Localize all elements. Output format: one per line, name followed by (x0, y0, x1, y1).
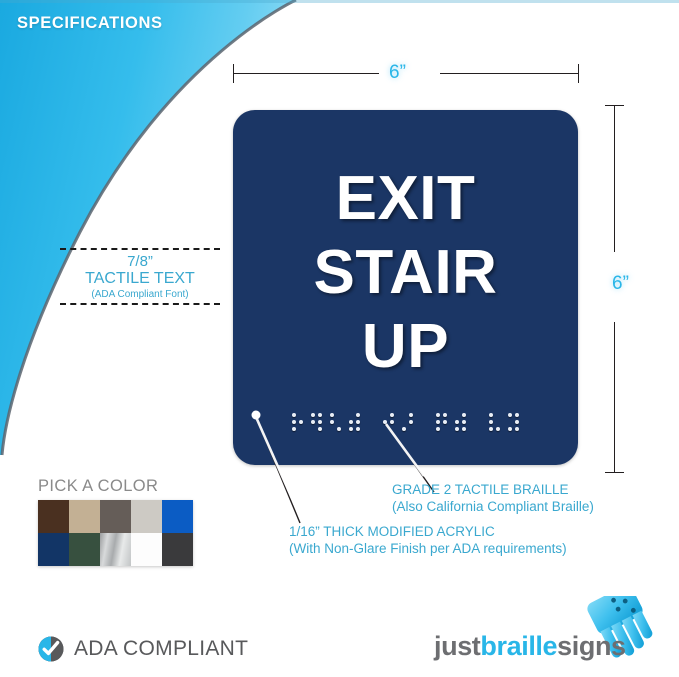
logo-part-just: just (434, 631, 480, 661)
dimension-height-label: 6” (612, 273, 629, 295)
callout-acrylic-line-2: (With Non-Glare Finish per ADA requireme… (289, 540, 567, 557)
dim-line-bottom (614, 322, 615, 472)
sign-text-line-3: UP (233, 310, 578, 384)
callout-acrylic: 1/16” THICK MODIFIED ACRYLIC (With Non-G… (289, 523, 567, 557)
swatch-dark-brown[interactable] (38, 500, 69, 533)
logo-part-signs: signs (557, 631, 626, 661)
ada-sign-preview: EXIT STAIR UP (233, 110, 578, 465)
swatch-white[interactable] (131, 533, 162, 566)
brand-logo[interactable]: justbraillesigns (434, 596, 664, 664)
swatch-forest-green[interactable] (69, 533, 100, 566)
tactile-text-annotation: 7/8” TACTILE TEXT (ADA Compliant Font) (60, 248, 220, 305)
page-title: SPECIFICATIONS (17, 14, 163, 33)
tactile-size-label: 7/8” (60, 253, 220, 270)
swatch-tan[interactable] (69, 500, 100, 533)
dim-line-right (440, 73, 578, 74)
swatch-bright-blue[interactable] (162, 500, 193, 533)
ada-compliant-label: ADA COMPLIANT (74, 637, 248, 661)
ada-check-badge-icon (38, 636, 64, 662)
braille-word-stair (383, 412, 413, 434)
logo-part-braille: braille (480, 631, 557, 661)
tactile-name-label: TACTILE TEXT (60, 270, 220, 288)
tactile-note-label: (ADA Compliant Font) (60, 288, 220, 301)
tactile-rule-bottom (60, 303, 220, 305)
pick-a-color-title: PICK A COLOR (38, 477, 158, 496)
dimension-width-label: 6” (389, 62, 406, 84)
sign-text-block: EXIT STAIR UP (233, 162, 578, 384)
dim-cap-right (578, 64, 579, 83)
callout-acrylic-line-1: 1/16” THICK MODIFIED ACRYLIC (289, 523, 567, 540)
braille-row (233, 412, 578, 434)
swatch-taupe-gray[interactable] (100, 500, 131, 533)
logo-wordmark: justbraillesigns (434, 631, 626, 662)
callout-grade2-braille: GRADE 2 TACTILE BRAILLE (Also California… (392, 481, 594, 515)
swatch-light-gray[interactable] (131, 500, 162, 533)
callout-braille-line-1: GRADE 2 TACTILE BRAILLE (392, 481, 594, 498)
swatch-navy-blue[interactable] (38, 533, 69, 566)
swatch-charcoal-black[interactable] (162, 533, 193, 566)
braille-word-trailing (489, 412, 519, 434)
specification-sheet: SPECIFICATIONS 6” 6” EXIT STAIR UP (0, 0, 679, 677)
sign-text-line-2: STAIR (233, 236, 578, 310)
dim-line-top (614, 105, 615, 252)
ada-compliant-badge-row: ADA COMPLIANT (38, 636, 248, 662)
swatch-brushed-silver[interactable] (100, 533, 131, 566)
dim-line-left (233, 73, 379, 74)
color-swatch-grid[interactable] (38, 500, 193, 566)
callout-braille-line-2: (Also California Compliant Braille) (392, 498, 594, 515)
braille-word-up (436, 412, 466, 434)
dim-cap-bottom (605, 472, 624, 473)
sign-text-line-1: EXIT (233, 162, 578, 236)
braille-word-exit (292, 412, 360, 434)
